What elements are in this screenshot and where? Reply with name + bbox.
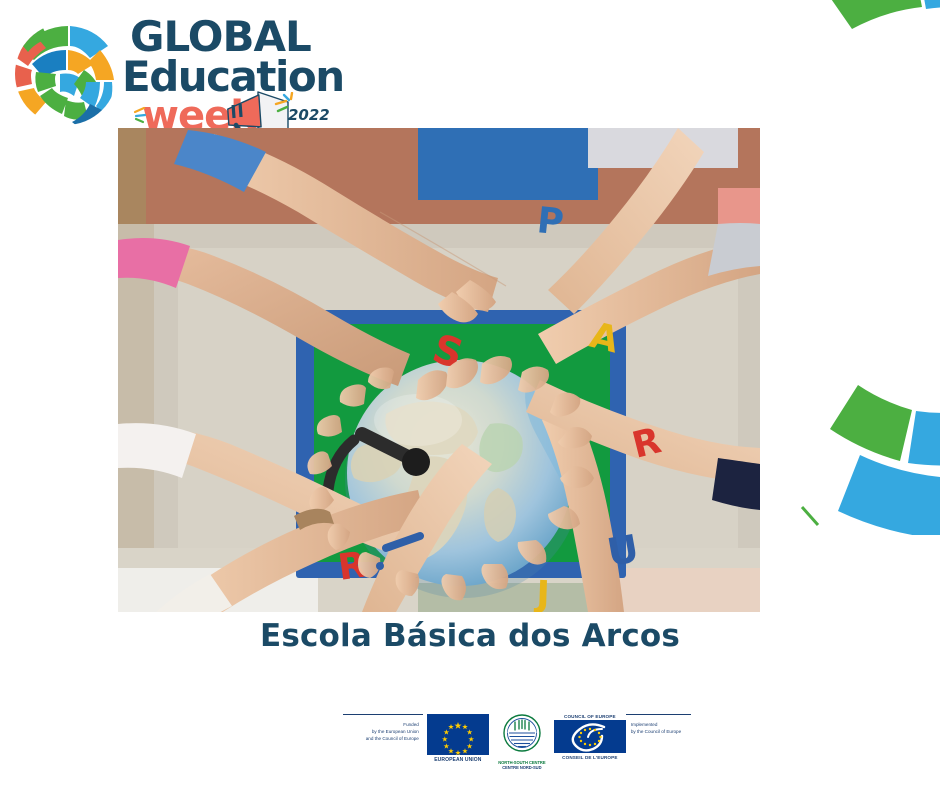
north-south-label-en: NORTH-SOUTH CENTRE — [497, 760, 547, 765]
svg-text:P: P — [535, 200, 566, 244]
logo-wordmark: GLOBAL Education week 2022 — [116, 8, 352, 136]
globe-icon — [12, 20, 120, 128]
council-of-europe-logo: COUNCIL OF EUROPE — [554, 714, 626, 760]
implementation-line-2: by the Council of Europe — [631, 728, 691, 735]
global-education-week-logo: GLOBAL Education week 2022 — [8, 6, 348, 136]
european-union-logo: EUROPEAN UNION — [427, 714, 489, 763]
classroom-globe-photo: S A R J U R A — [118, 128, 760, 612]
north-south-centre-logo: NORTH-SOUTH CENTRE CENTRE NORD-SUD — [497, 714, 547, 770]
coe-label-fr: CONSEIL DE L'EUROPE — [554, 755, 626, 760]
sparkle-icon-left — [126, 104, 148, 126]
sparkle-icon — [274, 92, 304, 118]
coe-label-en: COUNCIL OF EUROPE — [554, 714, 626, 719]
north-south-label-fr: CENTRE NORD-SUD — [497, 765, 547, 770]
implementation-statement: Implemented by the Council of Europe — [626, 714, 691, 735]
coe-flag-icon — [554, 720, 626, 753]
funding-line-1: Funded — [343, 721, 419, 728]
poster-canvas: GLOBAL Education week 2022 — [0, 0, 940, 788]
funding-line-3: and the Council of Europe — [343, 735, 419, 742]
implementation-line-1: Implemented — [631, 721, 691, 728]
funding-line-2: by the European Union — [343, 728, 419, 735]
eu-label: EUROPEAN UNION — [427, 757, 489, 763]
north-south-centre-icon — [497, 714, 547, 754]
funding-statement: Funded by the European Union and the Cou… — [343, 714, 423, 742]
page-title: Escola Básica dos Arcos — [0, 618, 940, 654]
footer-logo-strip: Funded by the European Union and the Cou… — [343, 714, 691, 772]
eu-flag-icon — [427, 714, 489, 755]
